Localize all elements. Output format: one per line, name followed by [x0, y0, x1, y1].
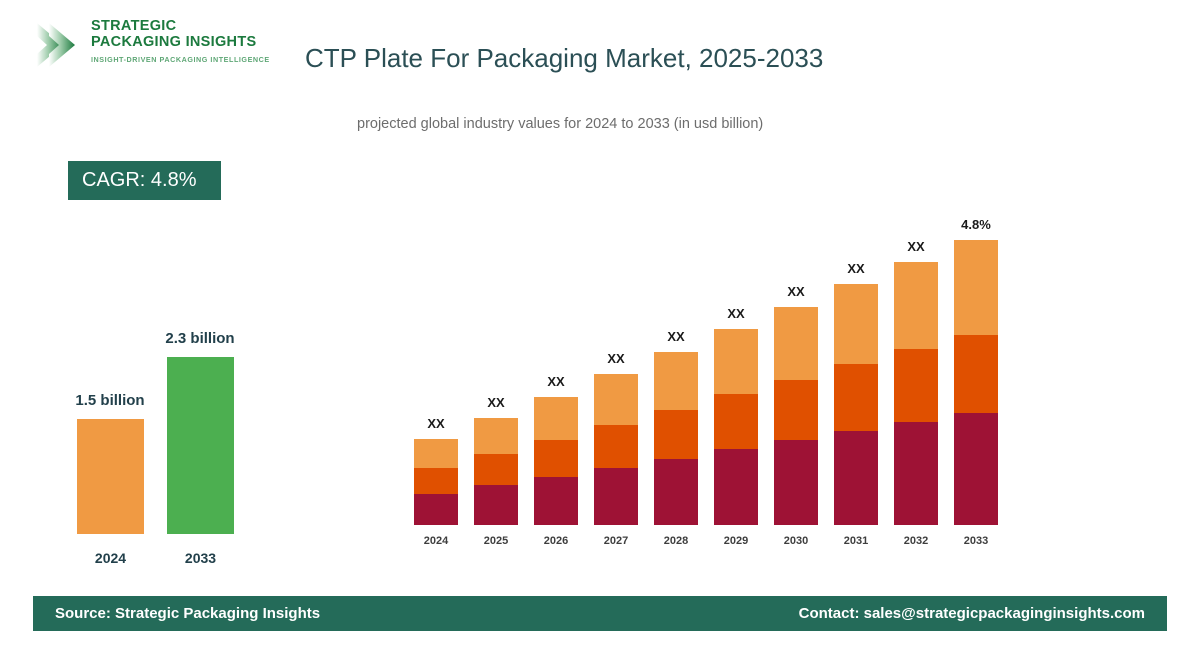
stacked-bar-segment-segment-2[interactable] [954, 335, 998, 413]
poster-canvas: STRATEGIC PACKAGING INSIGHTS INSIGHT-DRI… [0, 0, 1200, 650]
stacked-bar[interactable] [654, 352, 698, 525]
stacked-bar-segment-segment-1[interactable] [474, 485, 518, 525]
stacked-bar-segment-segment-2[interactable] [474, 454, 518, 485]
stacked-bar-segment-segment-2[interactable] [714, 394, 758, 449]
comparison-bar[interactable] [167, 357, 234, 534]
brand-logo: STRATEGIC PACKAGING INSIGHTS INSIGHT-DRI… [33, 16, 243, 76]
stacked-bar-segment-segment-3[interactable] [954, 240, 998, 335]
stacked-bar-segment-segment-2[interactable] [774, 380, 818, 440]
stacked-bar-segment-segment-3[interactable] [474, 418, 518, 454]
stacked-bar-group: XX2028 [654, 352, 698, 525]
logo-line-2: PACKAGING INSIGHTS [91, 35, 270, 51]
stacked-bar-segment-segment-2[interactable] [654, 410, 698, 459]
stacked-bar-group: XX2030 [774, 307, 818, 525]
stacked-bar[interactable] [714, 329, 758, 525]
cagr-badge-label: CAGR: 4.8% [82, 169, 196, 192]
stacked-bar-segment-segment-1[interactable] [414, 494, 458, 525]
stacked-bar[interactable] [534, 397, 578, 525]
stacked-bar-segment-segment-2[interactable] [414, 468, 458, 494]
market-size-comparison-chart: 1.5 billion20242.3 billion2033 [55, 300, 285, 570]
stacked-bar[interactable] [834, 284, 878, 525]
stacked-bar-year-label: 2033 [954, 535, 998, 547]
stacked-bar-segment-segment-3[interactable] [534, 397, 578, 440]
stacked-bar-segment-segment-3[interactable] [594, 374, 638, 425]
stacked-bar-segment-segment-1[interactable] [834, 431, 878, 525]
stacked-bar-segment-segment-3[interactable] [414, 439, 458, 468]
footer-contact[interactable]: Contact: sales@strategicpackaginginsight… [799, 605, 1145, 622]
stacked-bar-segment-segment-2[interactable] [834, 364, 878, 431]
stacked-bar-group: XX2024 [414, 439, 458, 525]
stacked-bar-value-label: XX [511, 374, 601, 389]
stacked-bar-segment-segment-2[interactable] [534, 440, 578, 477]
footer-bar: Source: Strategic Packaging Insights Con… [33, 596, 1167, 631]
cagr-badge: CAGR: 4.8% [68, 161, 221, 200]
comparison-bar[interactable] [77, 419, 144, 534]
footer-source: Source: Strategic Packaging Insights [55, 605, 320, 622]
logo-tagline: INSIGHT-DRIVEN PACKAGING INTELLIGENCE [91, 55, 270, 64]
stacked-bar[interactable] [954, 240, 998, 525]
stacked-bar-segment-segment-3[interactable] [774, 307, 818, 380]
page-title: CTP Plate For Packaging Market, 2025-203… [305, 43, 823, 74]
stacked-bar-year-label: 2030 [774, 535, 818, 547]
stacked-bar-group: 4.8%2033 [954, 240, 998, 525]
comparison-bar-group: 1.5 billion2024 [77, 419, 144, 534]
stacked-bar-segment-segment-2[interactable] [594, 425, 638, 467]
stacked-bar-value-label: XX [811, 261, 901, 276]
stacked-bar-value-label: XX [751, 284, 841, 299]
stacked-bar-segment-segment-1[interactable] [774, 440, 818, 525]
stacked-bar-segment-segment-1[interactable] [654, 459, 698, 525]
stacked-bar-group: XX2032 [894, 262, 938, 525]
stacked-bar-year-label: 2024 [414, 535, 458, 547]
chevron-right-icon [33, 20, 85, 70]
stacked-bar-value-label: XX [571, 351, 661, 366]
stacked-bar-year-label: 2027 [594, 535, 638, 547]
stacked-bar-segment-segment-2[interactable] [894, 349, 938, 421]
stacked-bar-value-label: XX [871, 239, 961, 254]
stacked-bar-group: XX2026 [534, 397, 578, 525]
stacked-bar-year-label: 2029 [714, 535, 758, 547]
stacked-bar-segment-segment-1[interactable] [594, 468, 638, 525]
stacked-bar[interactable] [894, 262, 938, 525]
page-subtitle: projected global industry values for 202… [357, 116, 763, 132]
stacked-bar-segment-segment-3[interactable] [714, 329, 758, 394]
comparison-bar-group: 2.3 billion2033 [167, 357, 234, 534]
stacked-bar-value-label: XX [391, 416, 481, 431]
stacked-bar-group: XX2029 [714, 329, 758, 525]
stacked-bar[interactable] [414, 439, 458, 525]
stacked-bar-segment-segment-3[interactable] [834, 284, 878, 364]
stacked-bar-value-label: XX [451, 395, 541, 410]
stacked-bar-year-label: 2026 [534, 535, 578, 547]
stacked-bar[interactable] [594, 374, 638, 525]
stacked-bar-segment-segment-3[interactable] [894, 262, 938, 349]
stacked-bar-value-label: XX [631, 329, 721, 344]
stacked-bar-segment-segment-1[interactable] [714, 449, 758, 525]
stacked-bar-group: XX2025 [474, 418, 518, 525]
stacked-bar-group: XX2027 [594, 374, 638, 525]
stacked-bar-year-label: 2032 [894, 535, 938, 547]
comparison-bar-value-label: 2.3 billion [100, 330, 300, 347]
stacked-bar[interactable] [474, 418, 518, 525]
stacked-bar-segment-segment-3[interactable] [654, 352, 698, 410]
stacked-bar-group: XX2031 [834, 284, 878, 525]
stacked-bar-year-label: 2025 [474, 535, 518, 547]
stacked-bar[interactable] [774, 307, 818, 525]
stacked-bar-value-label: XX [691, 306, 781, 321]
comparison-bar-year-label: 2024 [77, 550, 144, 566]
stacked-bar-segment-segment-1[interactable] [894, 422, 938, 525]
stacked-bar-segment-segment-1[interactable] [954, 413, 998, 525]
stacked-bar-segment-segment-1[interactable] [534, 477, 578, 525]
stacked-bar-year-label: 2028 [654, 535, 698, 547]
projected-values-stacked-chart: XX2024XX2025XX2026XX2027XX2028XX2029XX20… [400, 190, 1020, 560]
stacked-bar-year-label: 2031 [834, 535, 878, 547]
logo-wordmark: STRATEGIC PACKAGING INSIGHTS INSIGHT-DRI… [91, 19, 270, 64]
comparison-bar-year-label: 2033 [167, 550, 234, 566]
logo-line-1: STRATEGIC [91, 19, 270, 35]
stacked-bar-value-label: 4.8% [931, 217, 1021, 232]
